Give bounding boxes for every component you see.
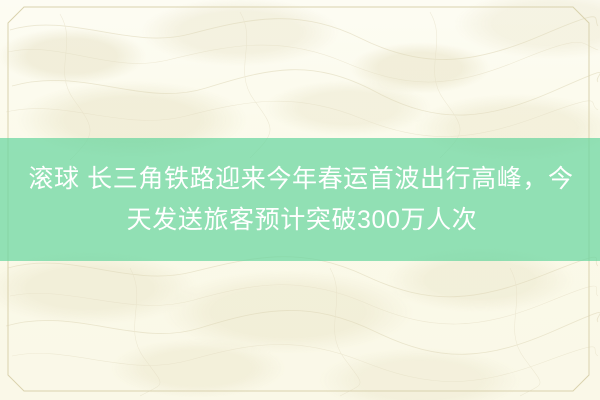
headline-line-1: 滚球 长三角铁路迎来今年春运首波出行高峰，今	[26, 159, 573, 200]
headline-banner: 滚球 长三角铁路迎来今年春运首波出行高峰，今 天发送旅客预计突破300万人次	[0, 138, 600, 261]
headline-line-2: 天发送旅客预计突破300万人次	[123, 200, 478, 241]
screenshot-canvas: 滚球 长三角铁路迎来今年春运首波出行高峰，今 天发送旅客预计突破300万人次	[0, 0, 600, 400]
